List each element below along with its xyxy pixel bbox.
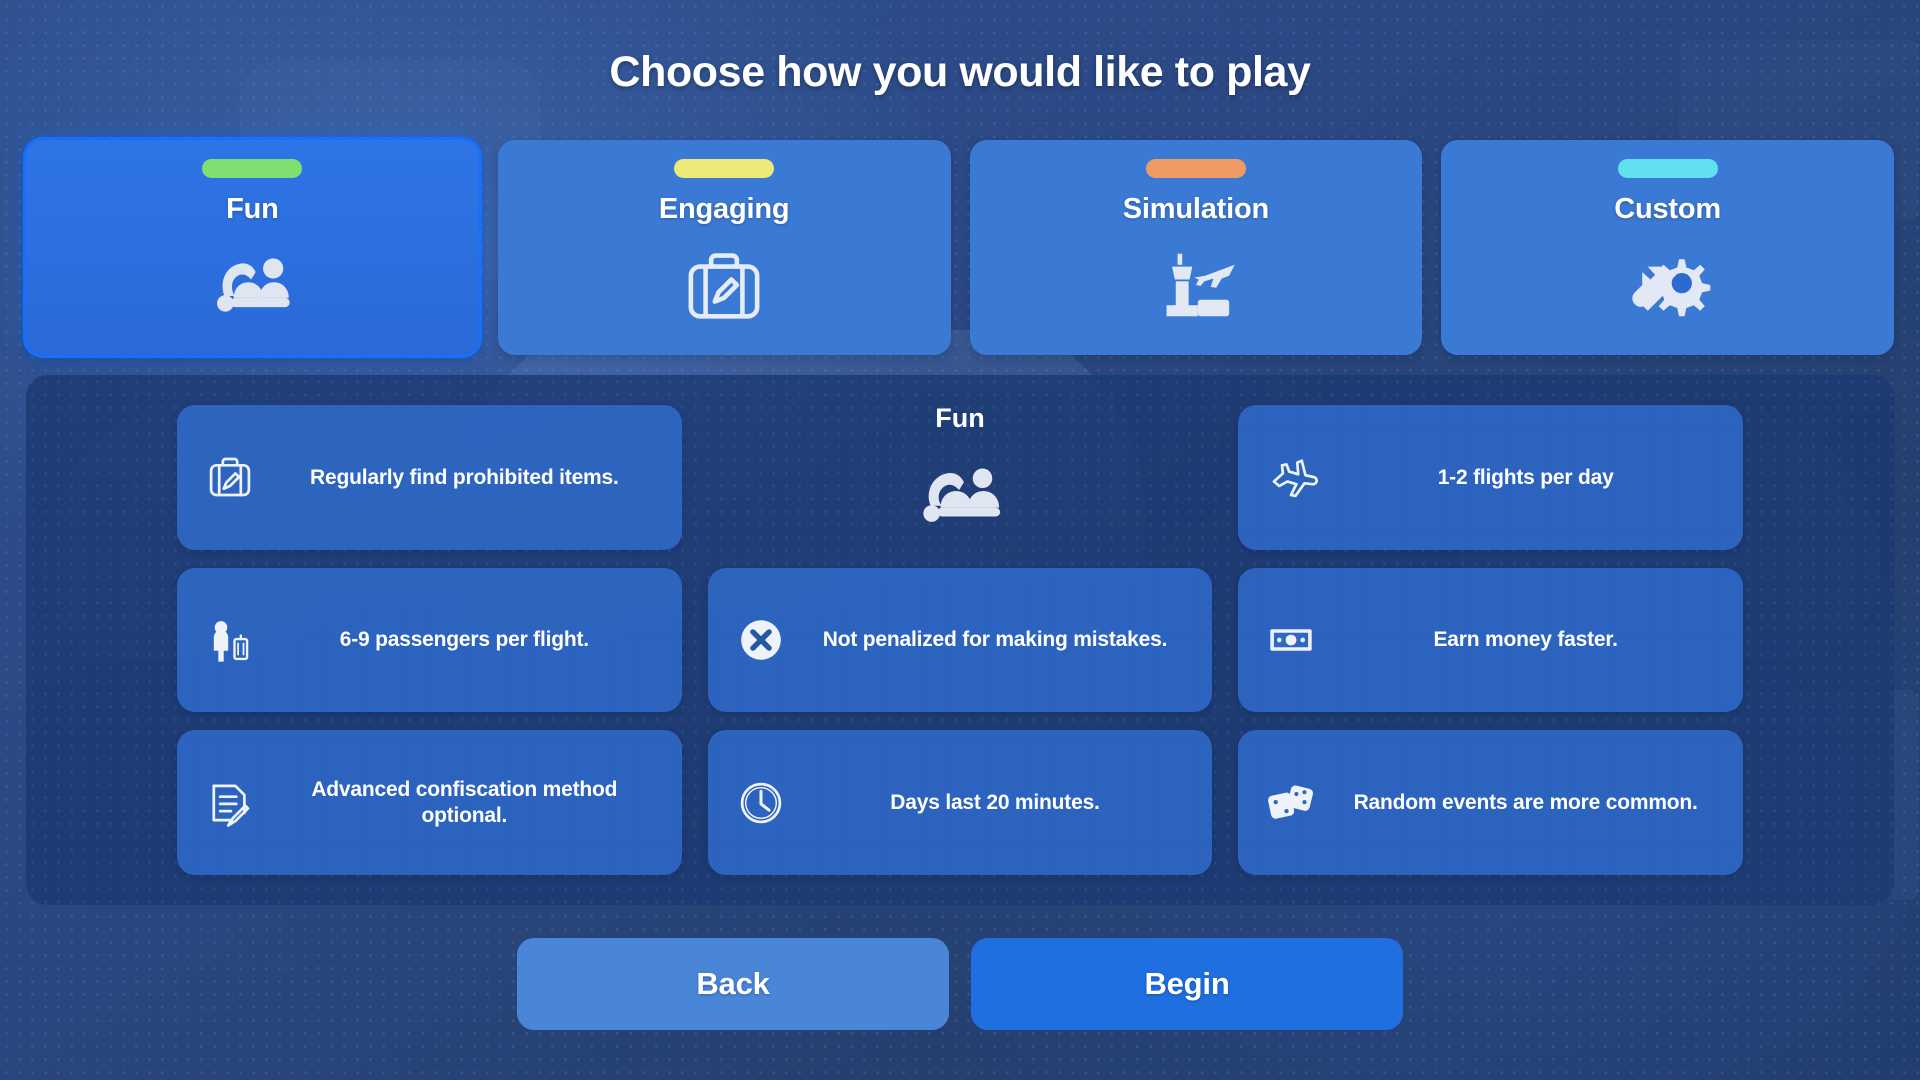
- tab-engaging-pill: [674, 159, 774, 178]
- feature-card-earn-money: Earn money faster.: [1238, 568, 1743, 713]
- feature-card-passengers: 6-9 passengers per flight.: [177, 568, 682, 713]
- suitcase-icon: [676, 237, 772, 333]
- gear-wrench-icon: [1620, 237, 1716, 333]
- control-tower-icon: [1148, 237, 1244, 333]
- tab-custom-label: Custom: [1614, 193, 1721, 226]
- feature-slot-empty-center-1: [708, 405, 1213, 550]
- feature-card-day-length: Days last 20 minutes.: [708, 730, 1213, 875]
- document-edit-icon: [199, 772, 261, 834]
- mode-detail-panel: Fun: [26, 375, 1894, 905]
- circle-x-icon: [730, 609, 792, 671]
- feature-card-flights-per-day: 1-2 flights per day: [1238, 405, 1743, 550]
- feature-label: 6-9 passengers per flight.: [267, 627, 672, 653]
- tab-fun-label: Fun: [226, 193, 279, 226]
- action-bar: Back Begin: [0, 938, 1920, 1030]
- tab-fun[interactable]: Fun: [26, 140, 479, 355]
- feature-label: Not penalized for making mistakes.: [798, 627, 1203, 653]
- feature-grid: Regularly find prohibited items. 1-2 fli…: [177, 405, 1743, 875]
- jester-hat-icon: [204, 237, 300, 333]
- feature-label: Days last 20 minutes.: [798, 790, 1203, 816]
- feature-label: 1-2 flights per day: [1328, 465, 1733, 491]
- back-button[interactable]: Back: [517, 938, 949, 1030]
- suitcase-tag-icon: [199, 446, 261, 508]
- tab-engaging[interactable]: Engaging: [498, 140, 951, 355]
- tab-simulation-label: Simulation: [1123, 193, 1269, 226]
- tab-fun-pill: [202, 159, 302, 178]
- feature-card-confiscation-method: Advanced confiscation method optional.: [177, 730, 682, 875]
- banknote-icon: [1260, 609, 1322, 671]
- tab-simulation[interactable]: Simulation: [970, 140, 1423, 355]
- tab-simulation-pill: [1146, 159, 1246, 178]
- mode-tab-list: Fun Engaging: [26, 140, 1894, 355]
- page-title: Choose how you would like to play: [0, 48, 1920, 97]
- begin-button[interactable]: Begin: [971, 938, 1403, 1030]
- feature-label: Regularly find prohibited items.: [267, 465, 672, 491]
- passenger-icon: [199, 609, 261, 671]
- feature-label: Random events are more common.: [1328, 790, 1733, 816]
- dice-icon: [1260, 772, 1322, 834]
- tab-custom-pill: [1618, 159, 1718, 178]
- feature-card-prohibited-items: Regularly find prohibited items.: [177, 405, 682, 550]
- tab-custom[interactable]: Custom: [1441, 140, 1894, 355]
- feature-label: Earn money faster.: [1328, 627, 1733, 653]
- feature-card-random-events: Random events are more common.: [1238, 730, 1743, 875]
- feature-label: Advanced confiscation method optional.: [267, 777, 672, 828]
- clock-icon: [730, 772, 792, 834]
- feature-card-no-penalty: Not penalized for making mistakes.: [708, 568, 1213, 713]
- airplane-icon: [1260, 446, 1322, 508]
- tab-engaging-label: Engaging: [659, 193, 790, 226]
